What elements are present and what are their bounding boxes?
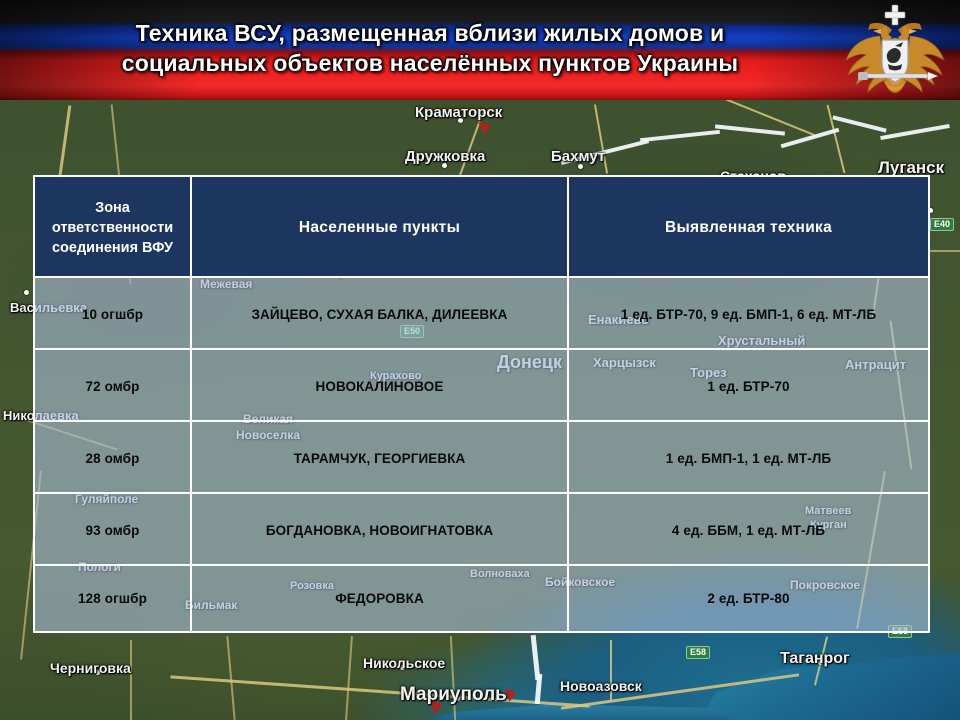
map-route-shield: E58 <box>686 646 710 659</box>
table-column-divider <box>567 177 569 278</box>
table-row[interactable]: 10 огшбр ЗАЙЦЕВО, СУХАЯ БАЛКА, ДИЛЕЕВКА … <box>35 278 928 350</box>
page-title-line-2: социальных объектов населённых пунктов У… <box>0 48 860 78</box>
map-label: Никольское <box>363 655 445 671</box>
title-banner: Техника ВСУ, размещенная вблизи жилых до… <box>0 0 960 100</box>
table-row[interactable]: 128 огшбр ФЕДОРОВКА 2 ед. БТР-80 <box>35 566 928 631</box>
header-zone-line1: Зона <box>95 198 130 218</box>
cell-equipment: 2 ед. БТР-80 <box>569 566 928 631</box>
cell-equipment: 1 ед. БТР-70, 9 ед. БМП-1, 6 ед. МТ-ЛБ <box>569 278 928 350</box>
table-header-row: Зона ответственности соединения ВФУ Насе… <box>35 177 928 278</box>
table-header-cell-settlements: Населенные пункты <box>192 177 567 278</box>
cell-settlements: ФЕДОРОВКА <box>192 566 567 631</box>
table-row-divider <box>35 420 928 422</box>
cell-settlements: БОГДАНОВКА, НОВОИГНАТОВКА <box>192 494 567 566</box>
slide-root: КраматорскДружковкаБахмутСтахановЛуганск… <box>0 0 960 720</box>
header-zone-line3: соединения ВФУ <box>52 238 173 258</box>
map-label: Мариуполь <box>400 684 507 706</box>
cell-settlements: ТАРАМЧУК, ГЕОРГИЕВКА <box>192 422 567 494</box>
table-row-divider <box>35 492 928 494</box>
table-column-divider <box>190 278 192 631</box>
map-city-dot <box>24 290 29 295</box>
map-label: Новоазовск <box>560 678 642 694</box>
table-row[interactable]: 93 омбр БОГДАНОВКА, НОВОИГНАТОВКА 4 ед. … <box>35 494 928 566</box>
map-road <box>930 250 960 252</box>
table-row[interactable]: 72 омбр НОВОКАЛИНОВОЕ 1 ед. БТР-70 <box>35 350 928 422</box>
cell-equipment: 1 ед. БМП-1, 1 ед. МТ-ЛБ <box>569 422 928 494</box>
header-zone-line2: ответственности <box>52 218 173 238</box>
cell-unit: 10 огшбр <box>35 278 190 350</box>
cell-unit: 72 омбр <box>35 350 190 422</box>
table-column-divider <box>567 278 569 631</box>
map-label: Краматорск <box>415 104 502 121</box>
cell-unit: 28 омбр <box>35 422 190 494</box>
map-route-shield: E40 <box>930 218 954 231</box>
map-road <box>130 640 132 720</box>
cell-equipment: 1 ед. БТР-70 <box>569 350 928 422</box>
cell-settlements: НОВОКАЛИНОВОЕ <box>192 350 567 422</box>
table-row-divider <box>35 276 928 278</box>
table-column-divider <box>190 177 192 278</box>
table-row-divider <box>35 348 928 350</box>
map-label: Дружковка <box>405 148 485 165</box>
russian-armed-forces-emblem-icon <box>840 2 950 100</box>
cell-unit: 93 омбр <box>35 494 190 566</box>
cell-equipment: 4 ед. ББМ, 1 ед. МТ-ЛБ <box>569 494 928 566</box>
equipment-table: Зона ответственности соединения ВФУ Насе… <box>33 175 930 633</box>
table-header-cell-zone: Зона ответственности соединения ВФУ <box>35 177 190 278</box>
table-row-divider <box>35 564 928 566</box>
cell-settlements: ЗАЙЦЕВО, СУХАЯ БАЛКА, ДИЛЕЕВКА <box>192 278 567 350</box>
page-title: Техника ВСУ, размещенная вблизи жилых до… <box>0 18 860 78</box>
map-label: Бахмут <box>551 148 605 165</box>
table-header-cell-equipment: Выявленная техника <box>569 177 928 278</box>
map-label: Таганрог <box>780 650 850 668</box>
table-row[interactable]: 28 омбр ТАРАМЧУК, ГЕОРГИЕВКА 1 ед. БМП-1… <box>35 422 928 494</box>
map-label: Черниговка <box>50 660 131 676</box>
cell-unit: 128 огшбр <box>35 566 190 631</box>
page-title-line-1: Техника ВСУ, размещенная вблизи жилых до… <box>0 18 860 48</box>
